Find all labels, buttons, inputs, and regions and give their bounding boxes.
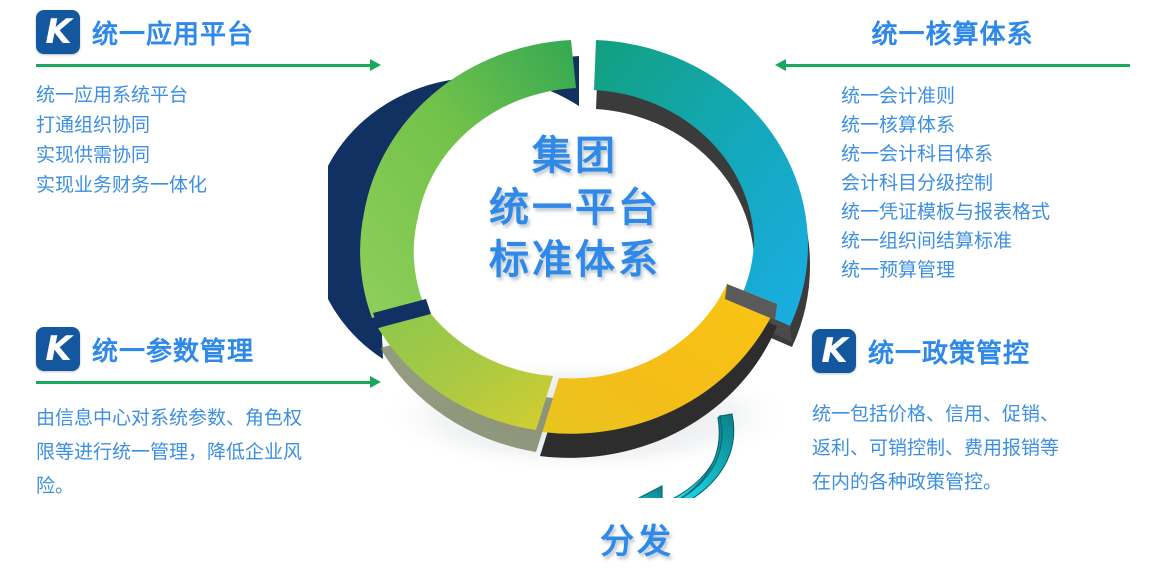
- divider-arrow-right: [36, 375, 381, 389]
- flow-label-distribute: 分发: [600, 514, 674, 563]
- paragraph-line: 险。: [36, 469, 381, 503]
- divider-line: [785, 64, 1130, 67]
- divider-arrow-left: [775, 58, 1130, 72]
- divider-line: [36, 381, 371, 384]
- block-parameter-management: K 统一参数管理 由信息中心对系统参数、角色权 限等进行统一管理，降低企业风 险…: [36, 325, 381, 503]
- block-title-app-platform: 统一应用平台: [92, 14, 254, 51]
- list-item: 会计科目分级控制: [841, 169, 1130, 198]
- list-item: 统一会计准则: [841, 82, 1130, 111]
- diagram-canvas: 集团 统一平台 标准体系 分发 K 统一应用平台 统一应用系统平台 打通组织协同…: [0, 0, 1162, 583]
- block-header: K 统一应用平台: [36, 8, 381, 56]
- arrow-head-icon: [370, 376, 381, 388]
- arrow-head-icon: [370, 59, 381, 71]
- block-title-accounting-system: 统一核算体系: [871, 14, 1033, 51]
- block-header: 统一核算体系: [775, 8, 1130, 56]
- list-item: 统一核算体系: [841, 111, 1130, 140]
- k-logo-letter: K: [36, 15, 80, 49]
- list-item: 统一应用系统平台: [36, 80, 381, 110]
- block-title-policy-control: 统一政策管控: [868, 333, 1030, 370]
- divider-line: [36, 64, 371, 67]
- list-item: 统一凭证模板与报表格式: [841, 198, 1130, 227]
- k-logo-icon: K: [36, 327, 80, 371]
- block-paragraph-parameter-management: 由信息中心对系统参数、角色权 限等进行统一管理，降低企业风 险。: [36, 401, 381, 503]
- paragraph-line: 由信息中心对系统参数、角色权: [36, 401, 381, 435]
- k-logo-letter: K: [812, 334, 856, 368]
- block-items-accounting-system: 统一会计准则 统一核算体系 统一会计科目体系 会计科目分级控制 统一凭证模板与报…: [775, 82, 1130, 285]
- block-title-parameter-management: 统一参数管理: [92, 331, 254, 368]
- paragraph-line: 统一包括价格、信用、促销、: [812, 397, 1122, 431]
- paragraph-line: 在内的各种政策管控。: [812, 465, 1122, 499]
- circular-ring-diagram: [328, 18, 838, 498]
- list-item: 实现供需协同: [36, 140, 381, 170]
- list-item: 实现业务财务一体化: [36, 170, 381, 200]
- block-items-app-platform: 统一应用系统平台 打通组织协同 实现供需协同 实现业务财务一体化: [36, 80, 381, 200]
- block-header: K 统一政策管控: [812, 327, 1122, 375]
- list-item: 统一预算管理: [841, 256, 1130, 285]
- arrow-head-icon: [775, 59, 786, 71]
- list-item: 打通组织协同: [36, 110, 381, 140]
- block-paragraph-policy-control: 统一包括价格、信用、促销、 返利、可销控制、费用报销等 在内的各种政策管控。: [812, 397, 1122, 499]
- block-app-platform: K 统一应用平台 统一应用系统平台 打通组织协同 实现供需协同 实现业务财务一体…: [36, 8, 381, 200]
- divider-arrow-right: [36, 58, 381, 72]
- paragraph-line: 返利、可销控制、费用报销等: [812, 431, 1122, 465]
- block-policy-control: K 统一政策管控 统一包括价格、信用、促销、 返利、可销控制、费用报销等 在内的…: [812, 327, 1122, 499]
- list-item: 统一组织间结算标准: [841, 227, 1130, 256]
- paragraph-line: 限等进行统一管理，降低企业风: [36, 435, 381, 469]
- block-header: K 统一参数管理: [36, 325, 381, 373]
- block-accounting-system: 统一核算体系 统一会计准则 统一核算体系 统一会计科目体系 会计科目分级控制 统…: [775, 8, 1130, 285]
- k-logo-icon: K: [812, 329, 856, 373]
- k-logo-letter: K: [36, 332, 80, 366]
- list-item: 统一会计科目体系: [841, 140, 1130, 169]
- k-logo-icon: K: [36, 10, 80, 54]
